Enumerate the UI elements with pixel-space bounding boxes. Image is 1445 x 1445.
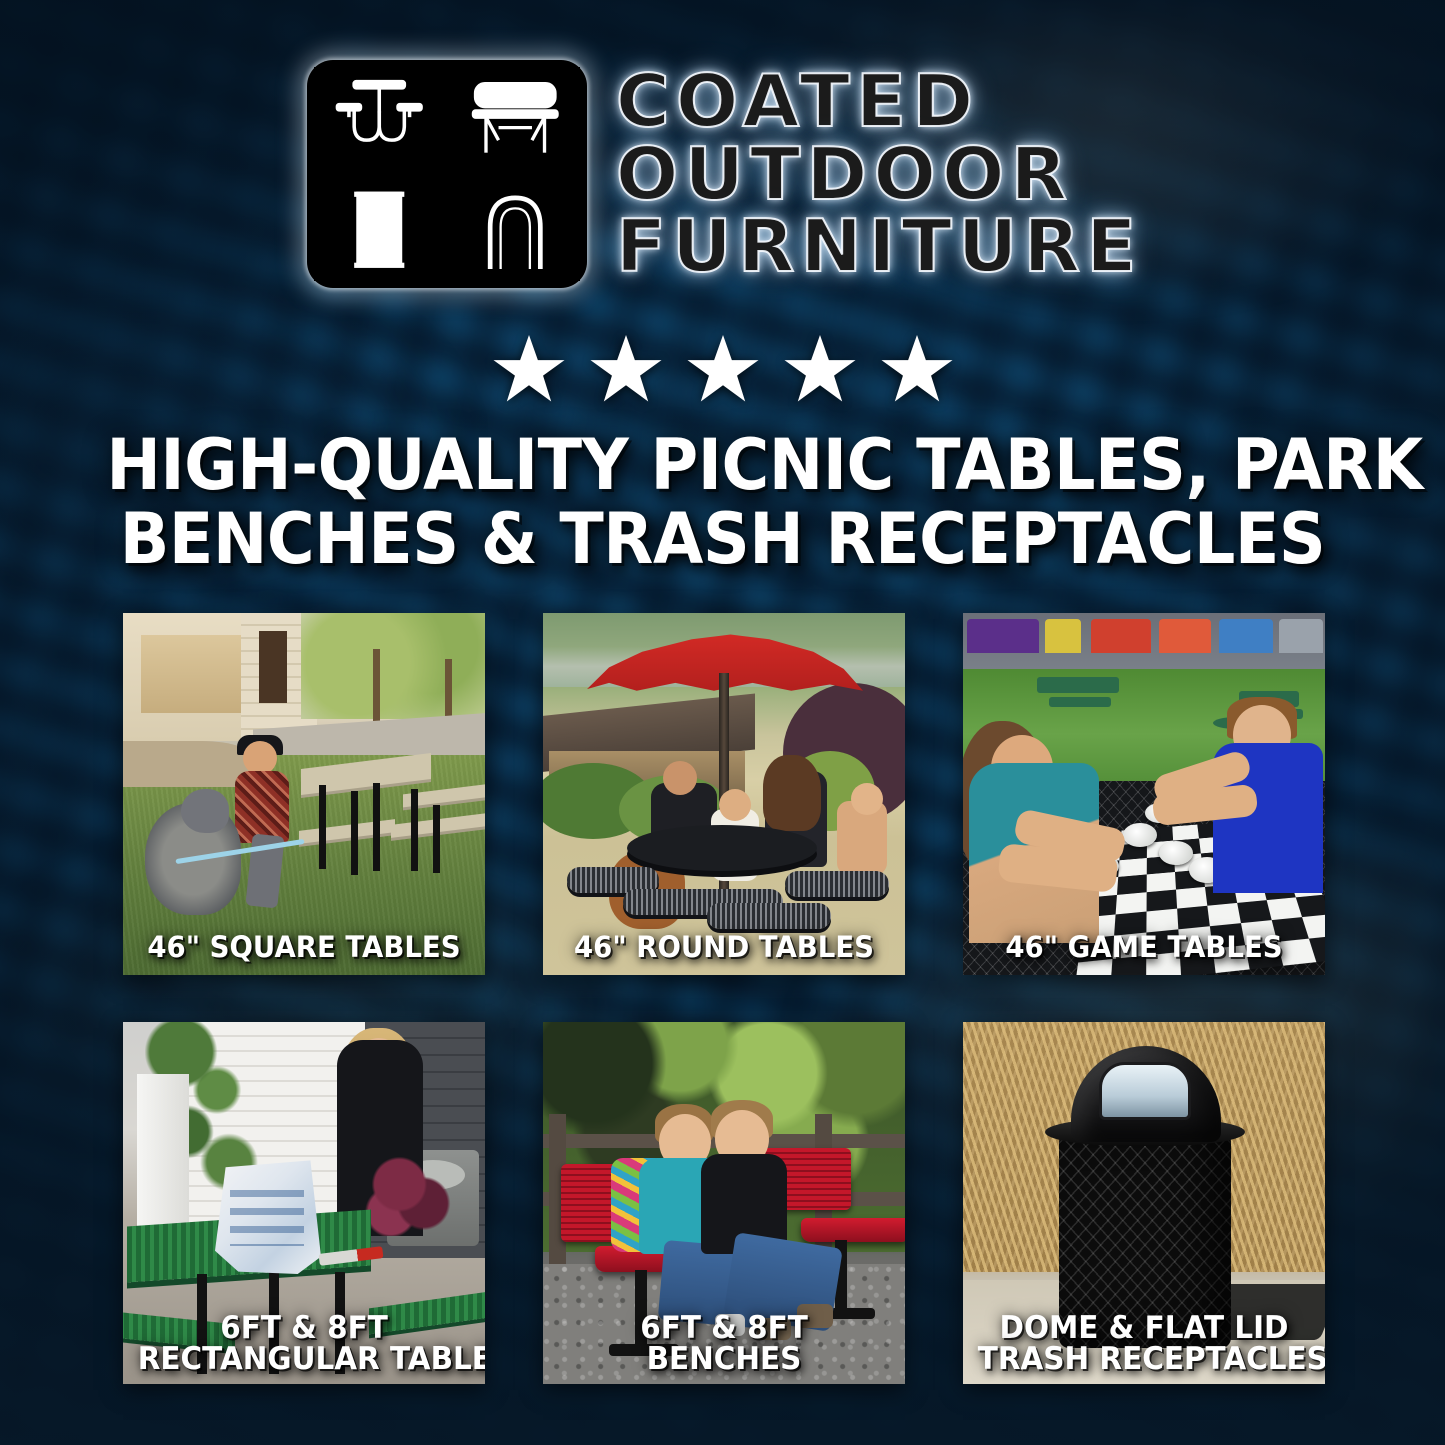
star-icon <box>589 332 663 406</box>
product-tile-rectangular-tables[interactable]: 6FT & 8FT RECTANGULAR TABLES <box>123 1022 485 1384</box>
product-photo-square-tables <box>123 613 485 975</box>
trash-receptacle-icon <box>314 177 445 282</box>
tile-caption: 46" SQUARE TABLES <box>132 933 476 963</box>
tile-caption: 46" ROUND TABLES <box>552 933 896 963</box>
caption-line-2: TRASH RECEPTACLES <box>978 1344 1311 1376</box>
tile-caption: 6FT & 8FT BENCHES <box>552 1313 896 1376</box>
caption-line-1: 46" ROUND TABLES <box>558 933 891 963</box>
product-tile-game-tables[interactable]: 46" GAME TABLES <box>963 613 1325 975</box>
product-tile-square-tables[interactable]: 46" SQUARE TABLES <box>123 613 485 975</box>
tile-caption: DOME & FLAT LID TRASH RECEPTACLES <box>972 1313 1316 1376</box>
tile-caption: 46" GAME TABLES <box>972 933 1316 963</box>
star-icon <box>880 332 954 406</box>
brand-name-line-2: OUTDOOR <box>616 139 1143 210</box>
brand-name-line-3: FURNITURE <box>616 211 1143 282</box>
product-photo-game-tables <box>963 613 1325 975</box>
caption-line-2: BENCHES <box>558 1344 891 1376</box>
brand-logo: COATED OUTDOOR FURNITURE <box>0 60 1445 288</box>
bench-side-view-icon <box>450 67 581 172</box>
brand-wordmark: COATED OUTDOOR FURNITURE <box>621 66 1137 282</box>
product-tile-benches[interactable]: 6FT & 8FT BENCHES <box>543 1022 905 1384</box>
caption-line-2: RECTANGULAR TABLES <box>138 1344 471 1376</box>
brand-name-line-1: COATED <box>616 66 1143 137</box>
caption-line-1: 46" GAME TABLES <box>978 933 1311 963</box>
star-icon <box>783 332 857 406</box>
caption-line-1: 46" SQUARE TABLES <box>138 933 471 963</box>
headline-line-1: HIGH-QUALITY PICNIC TABLES, PARK <box>106 428 1338 502</box>
product-photo-round-tables <box>543 613 905 975</box>
caption-line-1: 6FT & 8FT <box>558 1313 891 1345</box>
arch-bike-rack-icon <box>450 177 581 282</box>
tile-caption: 6FT & 8FT RECTANGULAR TABLES <box>132 1313 476 1376</box>
star-icon <box>492 332 566 406</box>
product-tile-grid: 46" SQUARE TABLES <box>123 613 1325 1384</box>
caption-line-1: DOME & FLAT LID <box>978 1313 1311 1345</box>
product-tile-round-tables[interactable]: 46" ROUND TABLES <box>543 613 905 975</box>
caption-line-1: 6FT & 8FT <box>138 1313 471 1345</box>
product-tile-trash-receptacles[interactable]: DOME & FLAT LID TRASH RECEPTACLES <box>963 1022 1325 1384</box>
star-icon <box>686 332 760 406</box>
coated-outdoor-furniture-logo <box>307 60 587 288</box>
picnic-table-frame-icon <box>314 67 445 172</box>
rating-stars <box>0 332 1445 406</box>
page-headline: HIGH-QUALITY PICNIC TABLES, PARK BENCHES… <box>51 428 1395 576</box>
headline-line-2: BENCHES & TRASH RECEPTACLES <box>106 502 1338 576</box>
promo-page: COATED OUTDOOR FURNITURE HIGH-QUALITY PI… <box>0 0 1445 1445</box>
